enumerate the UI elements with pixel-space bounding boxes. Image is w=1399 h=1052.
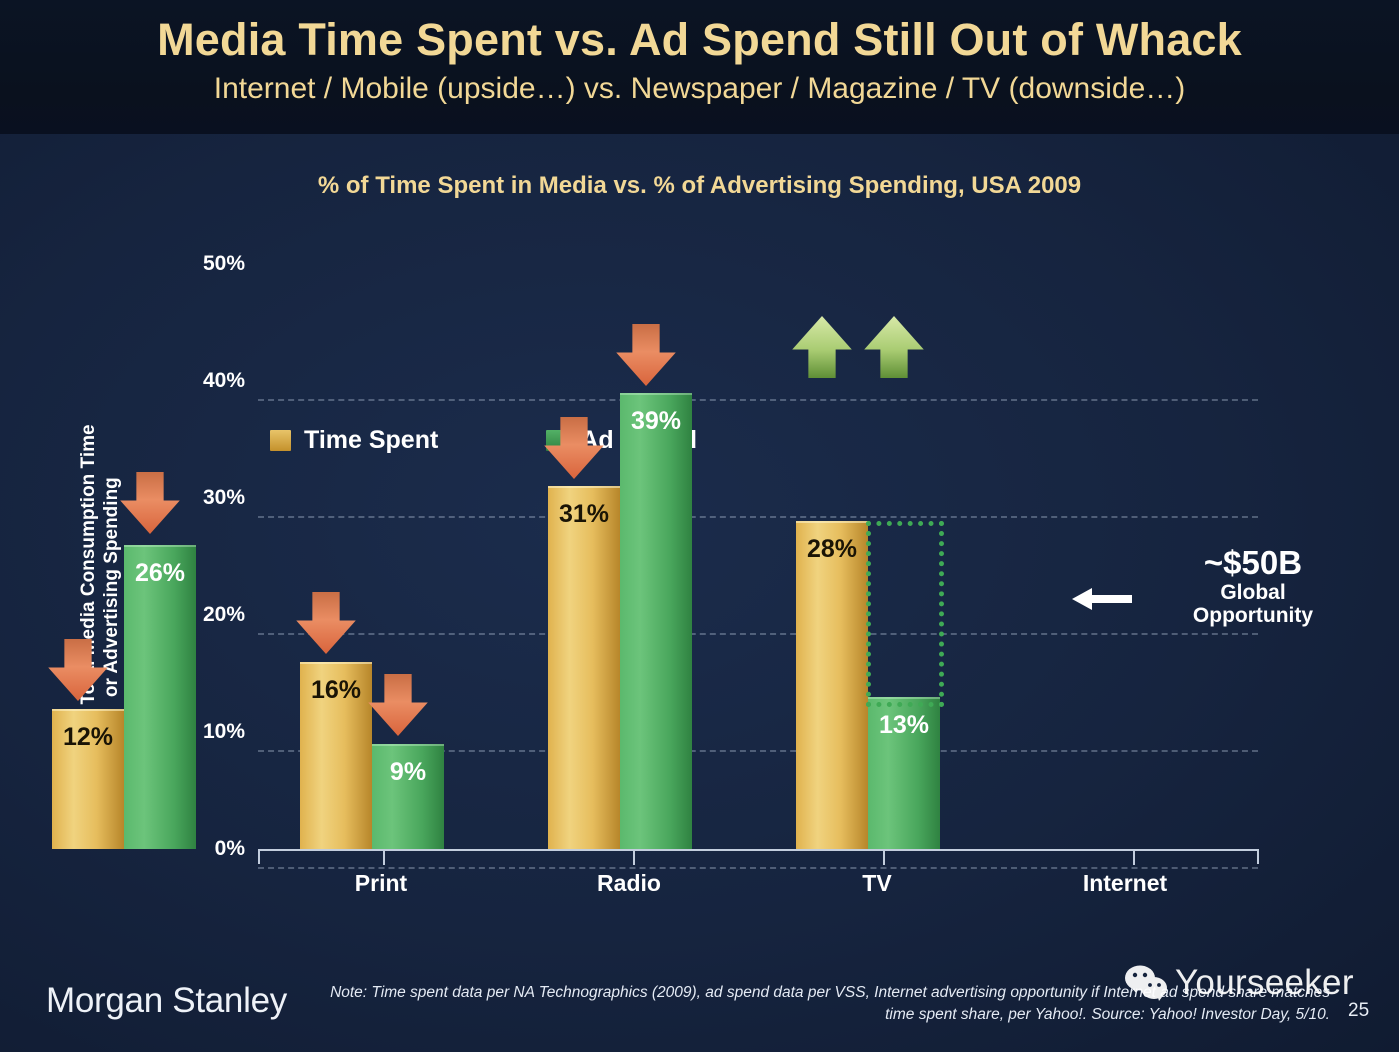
- x-axis-cap-left: [258, 849, 260, 864]
- x-axis-separator: [633, 851, 635, 865]
- callout-amount: ~$50B: [1128, 546, 1378, 581]
- chart-title: % of Time Spent in Media vs. % of Advert…: [0, 172, 1399, 200]
- callout-line3: Opportunity: [1128, 604, 1378, 628]
- down-arrow-icon: [47, 639, 109, 701]
- watermark: Yourseeker: [1124, 963, 1354, 1003]
- bar-radio-ad-spend[interactable]: 9%: [372, 744, 444, 849]
- x-axis-cap-right: [1257, 849, 1259, 864]
- x-axis-separator: [1133, 851, 1135, 865]
- morgan-stanley-logo: Morgan Stanley: [46, 981, 287, 1021]
- callout-line2: Global: [1128, 581, 1378, 605]
- bar-internet-time-spent[interactable]: 28%: [796, 521, 868, 849]
- down-arrow-icon: [615, 324, 677, 386]
- x-tick-radio: Radio: [509, 870, 749, 897]
- y-tick-50: 50%: [125, 252, 245, 276]
- x-axis-line: [258, 849, 1259, 851]
- legend-label-time-spent: Time Spent: [304, 426, 438, 455]
- gold-swatch-icon: [270, 430, 291, 451]
- gridline-40: [258, 516, 1258, 518]
- watermark-text: Yourseeker: [1175, 963, 1354, 1003]
- x-axis-separator: [383, 851, 385, 865]
- wechat-icon: [1124, 964, 1168, 1002]
- bar-value-tv-ad-spend: 39%: [620, 407, 692, 436]
- bar-internet-ad-spend[interactable]: 13%: [868, 697, 940, 849]
- x-tick-internet: Internet: [1005, 870, 1245, 897]
- callout-arrow-icon: [1072, 586, 1132, 612]
- up-arrow-icon: [791, 316, 853, 378]
- x-tick-tv: TV: [757, 870, 997, 897]
- slide: Media Time Spent vs. Ad Spend Still Out …: [0, 0, 1399, 1052]
- down-arrow-icon: [119, 472, 181, 534]
- x-tick-print: Print: [261, 870, 501, 897]
- bar-tv-ad-spend[interactable]: 39%: [620, 393, 692, 849]
- x-axis-separator: [883, 851, 885, 865]
- slide-header: Media Time Spent vs. Ad Spend Still Out …: [0, 0, 1399, 134]
- bar-value-radio-ad-spend: 9%: [372, 758, 444, 787]
- bar-value-internet-ad-spend: 13%: [868, 711, 940, 740]
- opportunity-callout: ~$50B Global Opportunity: [1128, 546, 1378, 628]
- y-axis-label-line1: % of Total Media Consumption Time: [78, 424, 99, 749]
- y-tick-40: 40%: [125, 369, 245, 393]
- gridline-30: [258, 633, 1258, 635]
- down-arrow-icon: [543, 417, 605, 479]
- bar-tv-time-spent[interactable]: 31%: [548, 486, 620, 849]
- page-title: Media Time Spent vs. Ad Spend Still Out …: [0, 14, 1399, 66]
- bar-value-radio-time-spent: 16%: [300, 676, 372, 705]
- bar-value-print-time-spent: 12%: [52, 723, 124, 752]
- legend-item-time-spent: Time Spent: [270, 426, 438, 455]
- bar-radio-time-spent[interactable]: 16%: [300, 662, 372, 849]
- page-subtitle: Internet / Mobile (upside…) vs. Newspape…: [0, 72, 1399, 106]
- bar-value-internet-time-spent: 28%: [796, 535, 868, 564]
- bar-value-print-ad-spend: 26%: [124, 559, 196, 588]
- bar-print-time-spent[interactable]: 12%: [52, 709, 124, 849]
- opportunity-box: [866, 521, 944, 707]
- gridline-10: [258, 867, 1258, 869]
- down-arrow-icon: [295, 592, 357, 654]
- down-arrow-icon: [367, 674, 429, 736]
- bar-print-ad-spend[interactable]: 26%: [124, 545, 196, 849]
- source-note-line1: Note: Time spent data per NA Technograph…: [330, 984, 1177, 1001]
- up-arrow-icon: [863, 316, 925, 378]
- gridline-50: [258, 399, 1258, 401]
- page-number: 25: [1348, 1000, 1369, 1022]
- bar-value-tv-time-spent: 31%: [548, 500, 620, 529]
- slide-body: % of Time Spent in Media vs. % of Advert…: [0, 134, 1399, 1052]
